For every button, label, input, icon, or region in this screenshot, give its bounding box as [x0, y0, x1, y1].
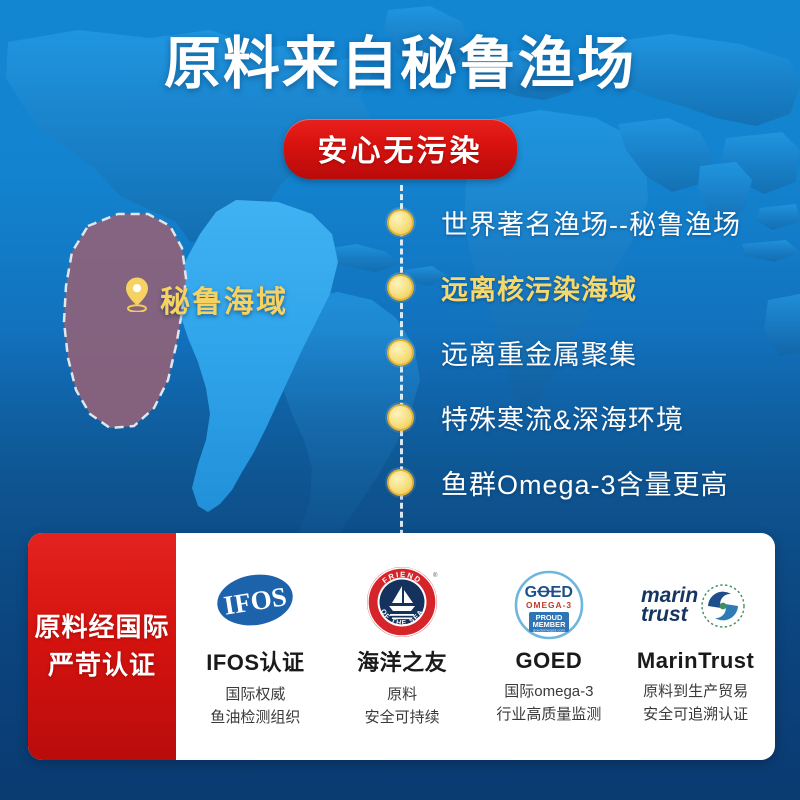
banner-line-2: 严苛认证 [48, 647, 156, 685]
feature-text: 世界著名渔场--秘鲁渔场 [441, 203, 741, 242]
bullet-dot-icon [387, 339, 414, 366]
cert-description: 原料 安全可持续 [365, 684, 440, 729]
list-item: 远离重金属聚集 [383, 335, 637, 369]
banner-line-1: 原料经国际 [34, 609, 169, 647]
cert-desc-line-1: 国际权威 [210, 684, 300, 707]
certification-banner: 原料经国际 严苛认证 [28, 533, 176, 760]
cert-description: 国际权威 鱼油检测组织 [210, 684, 300, 729]
bullet-dot-icon [387, 209, 414, 236]
goed-logo-icon: GOED OMEGA-3 PROUD MEMBER goedomega3.com [513, 567, 585, 643]
bullet-dot-icon [387, 274, 414, 301]
svg-text:goedomega3.com: goedomega3.com [533, 628, 566, 633]
svg-text:®: ® [433, 572, 438, 579]
cert-desc-line-1: 国际omega-3 [496, 681, 601, 704]
cert-name: MarinTrust [637, 648, 754, 674]
list-item: 世界著名渔场--秘鲁渔场 [383, 205, 741, 239]
cert-name: IFOS认证 [206, 645, 304, 677]
cert-name: GOED [515, 648, 582, 674]
ifos-logo-icon: IFOS [206, 564, 304, 640]
svg-text:OMEGA-3: OMEGA-3 [526, 600, 572, 610]
certification-list: IFOS IFOS认证 国际权威 鱼油检测组织 [176, 533, 775, 760]
peru-region-label: 秘鲁海域 [160, 277, 288, 321]
feature-list: 世界著名渔场--秘鲁渔场 远离核污染海域 远离重金属聚集 特殊寒流&深海环境 鱼… [383, 185, 783, 545]
cert-desc-line-2: 安全可追溯认证 [643, 704, 748, 727]
poster-root: 原料来自秘鲁渔场 安心无污染 [0, 0, 800, 800]
cert-desc-line-2: 行业高质量监测 [496, 704, 601, 727]
map-pin-icon [124, 276, 150, 312]
cert-item-goed: GOED OMEGA-3 PROUD MEMBER goedomega3.com… [476, 567, 623, 726]
page-title: 原料来自秘鲁渔场 [0, 33, 800, 97]
cert-description: 国际omega-3 行业高质量监测 [496, 681, 601, 726]
marintrust-logo-icon: marin trust [637, 567, 755, 643]
feature-text: 特殊寒流&深海环境 [441, 398, 684, 437]
feature-text: 远离核污染海域 [441, 268, 637, 307]
friend-of-the-sea-logo-icon: FRIEND OF THE SEA ® [365, 564, 439, 640]
cert-description: 原料到生产贸易 安全可追溯认证 [643, 681, 748, 726]
svg-text:GOED: GOED [525, 584, 574, 601]
cert-desc-line-2: 鱼油检测组织 [210, 707, 300, 730]
svg-text:trust: trust [641, 603, 689, 626]
list-item: 远离核污染海域 [383, 270, 637, 304]
certification-card: 原料经国际 严苛认证 IFOS IFOS认证 国际权威 鱼油检测组织 [28, 533, 775, 760]
bullet-dot-icon [387, 469, 414, 496]
cert-item-ifos: IFOS IFOS认证 国际权威 鱼油检测组织 [182, 564, 329, 729]
south-america-shape [178, 200, 338, 512]
feature-text: 远离重金属聚集 [441, 333, 637, 372]
feature-text: 鱼群Omega-3含量更高 [441, 463, 729, 502]
bullet-dot-icon [387, 404, 414, 431]
cert-name: 海洋之友 [357, 645, 447, 677]
cert-desc-line-1: 原料 [365, 684, 440, 707]
cert-desc-line-1: 原料到生产贸易 [643, 681, 748, 704]
status-badge: 安心无污染 [284, 119, 517, 179]
list-item: 特殊寒流&深海环境 [383, 400, 684, 434]
cert-item-friend-of-the-sea: FRIEND OF THE SEA ® 海洋之友 原料 安全可持续 [329, 564, 476, 729]
peru-map-illustration [40, 200, 380, 520]
peru-sea-region [64, 214, 186, 428]
list-item: 鱼群Omega-3含量更高 [383, 465, 729, 499]
badge-container: 安心无污染 [0, 119, 800, 179]
cert-item-marintrust: marin trust MarinTrust 原料到生产贸易 [622, 567, 769, 726]
cert-desc-line-2: 安全可持续 [365, 707, 440, 730]
